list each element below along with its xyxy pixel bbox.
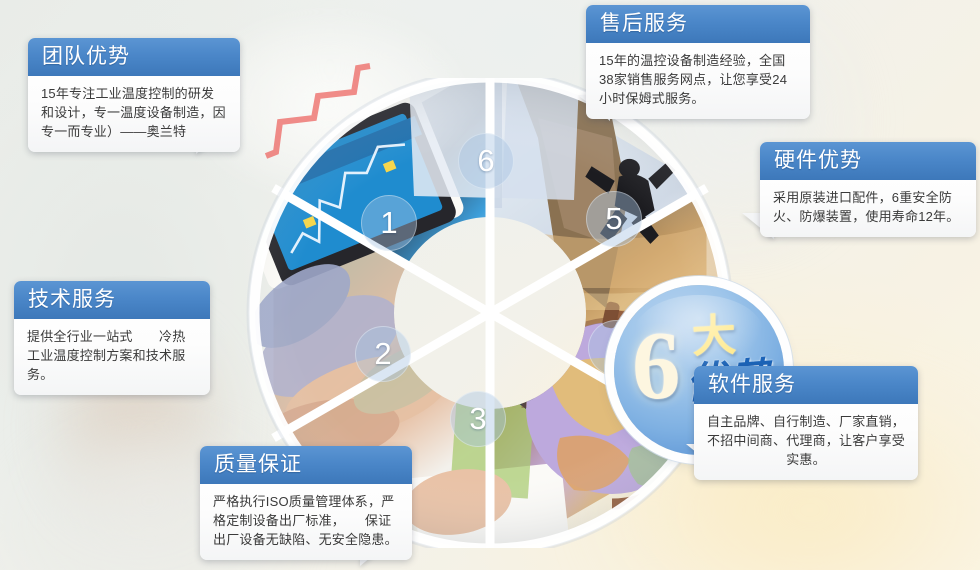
badge-3-label: 3 bbox=[469, 401, 486, 437]
callout-quality-guarantee[interactable]: 质量保证 严格执行ISO质量管理体系，严格定制设备出厂标准， 保证出厂设备无缺陷… bbox=[200, 446, 412, 560]
callout-after-sales-body: 15年的温控设备制造经验，全国38家销售服务网点，让您享受24小时保姆式服务。 bbox=[586, 43, 810, 119]
center-unit-char: 大 bbox=[691, 314, 737, 360]
badge-1[interactable]: 1 bbox=[361, 195, 417, 251]
callout-hardware-advantage[interactable]: 硬件优势 采用原装进口配件，6重安全防火、防爆装置，使用寿命12年。 bbox=[760, 142, 976, 237]
badge-6-label: 6 bbox=[477, 143, 494, 179]
callout-tech-title: 技术服务 bbox=[14, 281, 210, 319]
callout-tech-body: 提供全行业一站式 冷热工业温度控制方案和技术服务。 bbox=[14, 319, 210, 395]
badge-2[interactable]: 2 bbox=[355, 326, 411, 382]
callout-after-sales-title: 售后服务 bbox=[586, 5, 810, 43]
callout-software-body: 自主品牌、自行制造、厂家直销，不招中间商、代理商，让客户享受实惠。 bbox=[694, 404, 918, 480]
callout-hardware-title: 硬件优势 bbox=[760, 142, 976, 180]
callout-software-title: 软件服务 bbox=[694, 366, 918, 404]
badge-2-label: 2 bbox=[374, 336, 391, 372]
infographic-canvas: 6 大 优势 1 2 3 4 5 6 团队优势 15年专注工业温度控制的研发和设… bbox=[0, 0, 980, 570]
callout-after-sales[interactable]: 售后服务 15年的温控设备制造经验，全国38家销售服务网点，让您享受24小时保姆… bbox=[586, 5, 810, 119]
callout-team-advantage[interactable]: 团队优势 15年专注工业温度控制的研发和设计，专一温度设备制造，因专一而专业）—… bbox=[28, 38, 240, 152]
callout-team-body: 15年专注工业温度控制的研发和设计，专一温度设备制造，因专一而专业）——奥兰特 bbox=[28, 76, 240, 152]
badge-5[interactable]: 5 bbox=[586, 191, 642, 247]
badge-6[interactable]: 6 bbox=[458, 133, 514, 189]
callout-software-service[interactable]: 软件服务 自主品牌、自行制造、厂家直销，不招中间商、代理商，让客户享受实惠。 bbox=[694, 366, 918, 480]
callout-hardware-body: 采用原装进口配件，6重安全防火、防爆装置，使用寿命12年。 bbox=[760, 180, 976, 237]
center-number: 6 bbox=[632, 317, 681, 414]
callout-technical-service[interactable]: 技术服务 提供全行业一站式 冷热工业温度控制方案和技术服务。 bbox=[14, 281, 210, 395]
callout-quality-body: 严格执行ISO质量管理体系，严格定制设备出厂标准， 保证出厂设备无缺陷、无安全隐… bbox=[200, 484, 412, 560]
badge-1-label: 1 bbox=[380, 205, 397, 241]
callout-team-title: 团队优势 bbox=[28, 38, 240, 76]
badge-5-label: 5 bbox=[605, 201, 622, 237]
badge-3[interactable]: 3 bbox=[450, 391, 506, 447]
callout-quality-title: 质量保证 bbox=[200, 446, 412, 484]
